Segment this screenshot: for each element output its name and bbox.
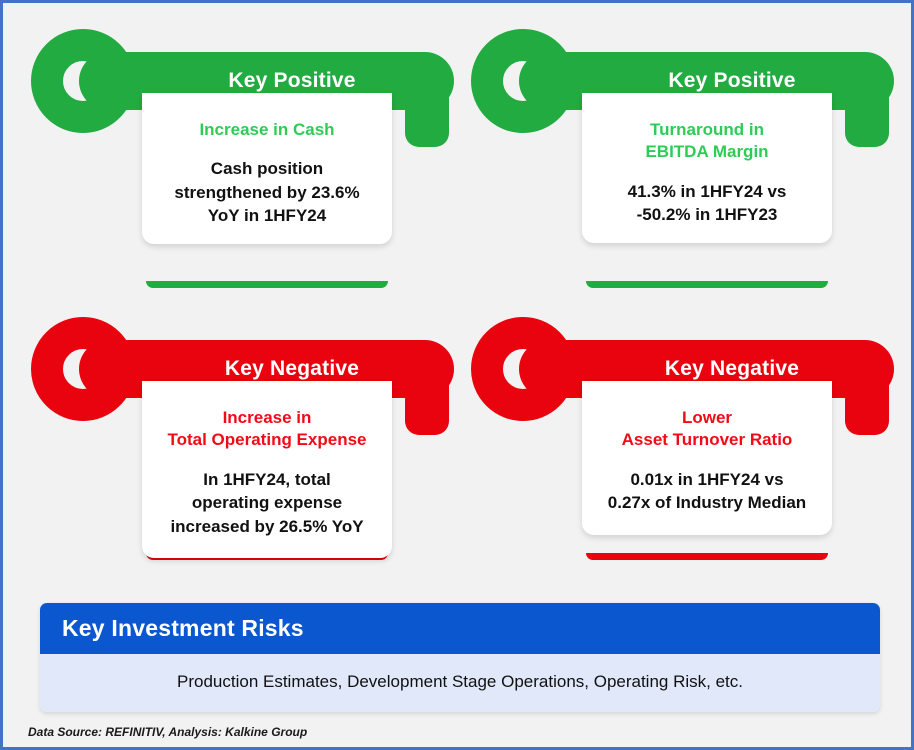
card-accent-bar — [586, 281, 828, 288]
card-badge-label: Key Positive — [147, 52, 437, 110]
key-head-circle — [31, 29, 135, 133]
infographic-canvas: Key Positive Increase in Cash Cash posit… — [0, 0, 914, 750]
risk-panel-header: Key Investment Risks — [40, 603, 880, 654]
key-head-circle — [471, 317, 575, 421]
card-content: Turnaround in EBITDA Margin 41.3% in 1HF… — [582, 93, 832, 243]
card-title: Increase in Cash — [152, 119, 382, 141]
key-investment-risks-panel: Key Investment Risks Production Estimate… — [40, 603, 880, 712]
card-badge-label: Key Negative — [147, 340, 437, 398]
card-content: Increase in Total Operating Expense In 1… — [142, 381, 392, 558]
card-body: Cash position strengthened by 23.6% YoY … — [152, 157, 382, 227]
key-card-negative-opex: Key Negative Increase in Total Operating… — [27, 313, 457, 568]
card-title: Increase in Total Operating Expense — [152, 407, 382, 452]
card-title: Lower Asset Turnover Ratio — [592, 407, 822, 452]
key-card-positive-ebitda: Key Positive Turnaround in EBITDA Margin… — [467, 25, 897, 280]
card-content: Increase in Cash Cash position strengthe… — [142, 93, 392, 244]
card-content: Lower Asset Turnover Ratio 0.01x in 1HFY… — [582, 381, 832, 535]
key-card-positive-cash: Key Positive Increase in Cash Cash posit… — [27, 25, 457, 280]
card-body: 41.3% in 1HFY24 vs -50.2% in 1HFY23 — [592, 180, 822, 227]
risk-panel-body: Production Estimates, Development Stage … — [40, 654, 880, 712]
card-body: In 1HFY24, total operating expense incre… — [152, 468, 382, 538]
card-badge-label: Key Negative — [587, 340, 877, 398]
data-source-footnote: Data Source: REFINITIV, Analysis: Kalkin… — [28, 725, 307, 739]
key-head-circle — [31, 317, 135, 421]
card-title: Turnaround in EBITDA Margin — [592, 119, 822, 164]
key-card-negative-asset-turnover: Key Negative Lower Asset Turnover Ratio … — [467, 313, 897, 568]
card-accent-bar — [146, 281, 388, 288]
key-head-circle — [471, 29, 575, 133]
card-accent-bar — [586, 553, 828, 560]
card-badge-label: Key Positive — [587, 52, 877, 110]
card-body: 0.01x in 1HFY24 vs 0.27x of Industry Med… — [592, 468, 822, 515]
